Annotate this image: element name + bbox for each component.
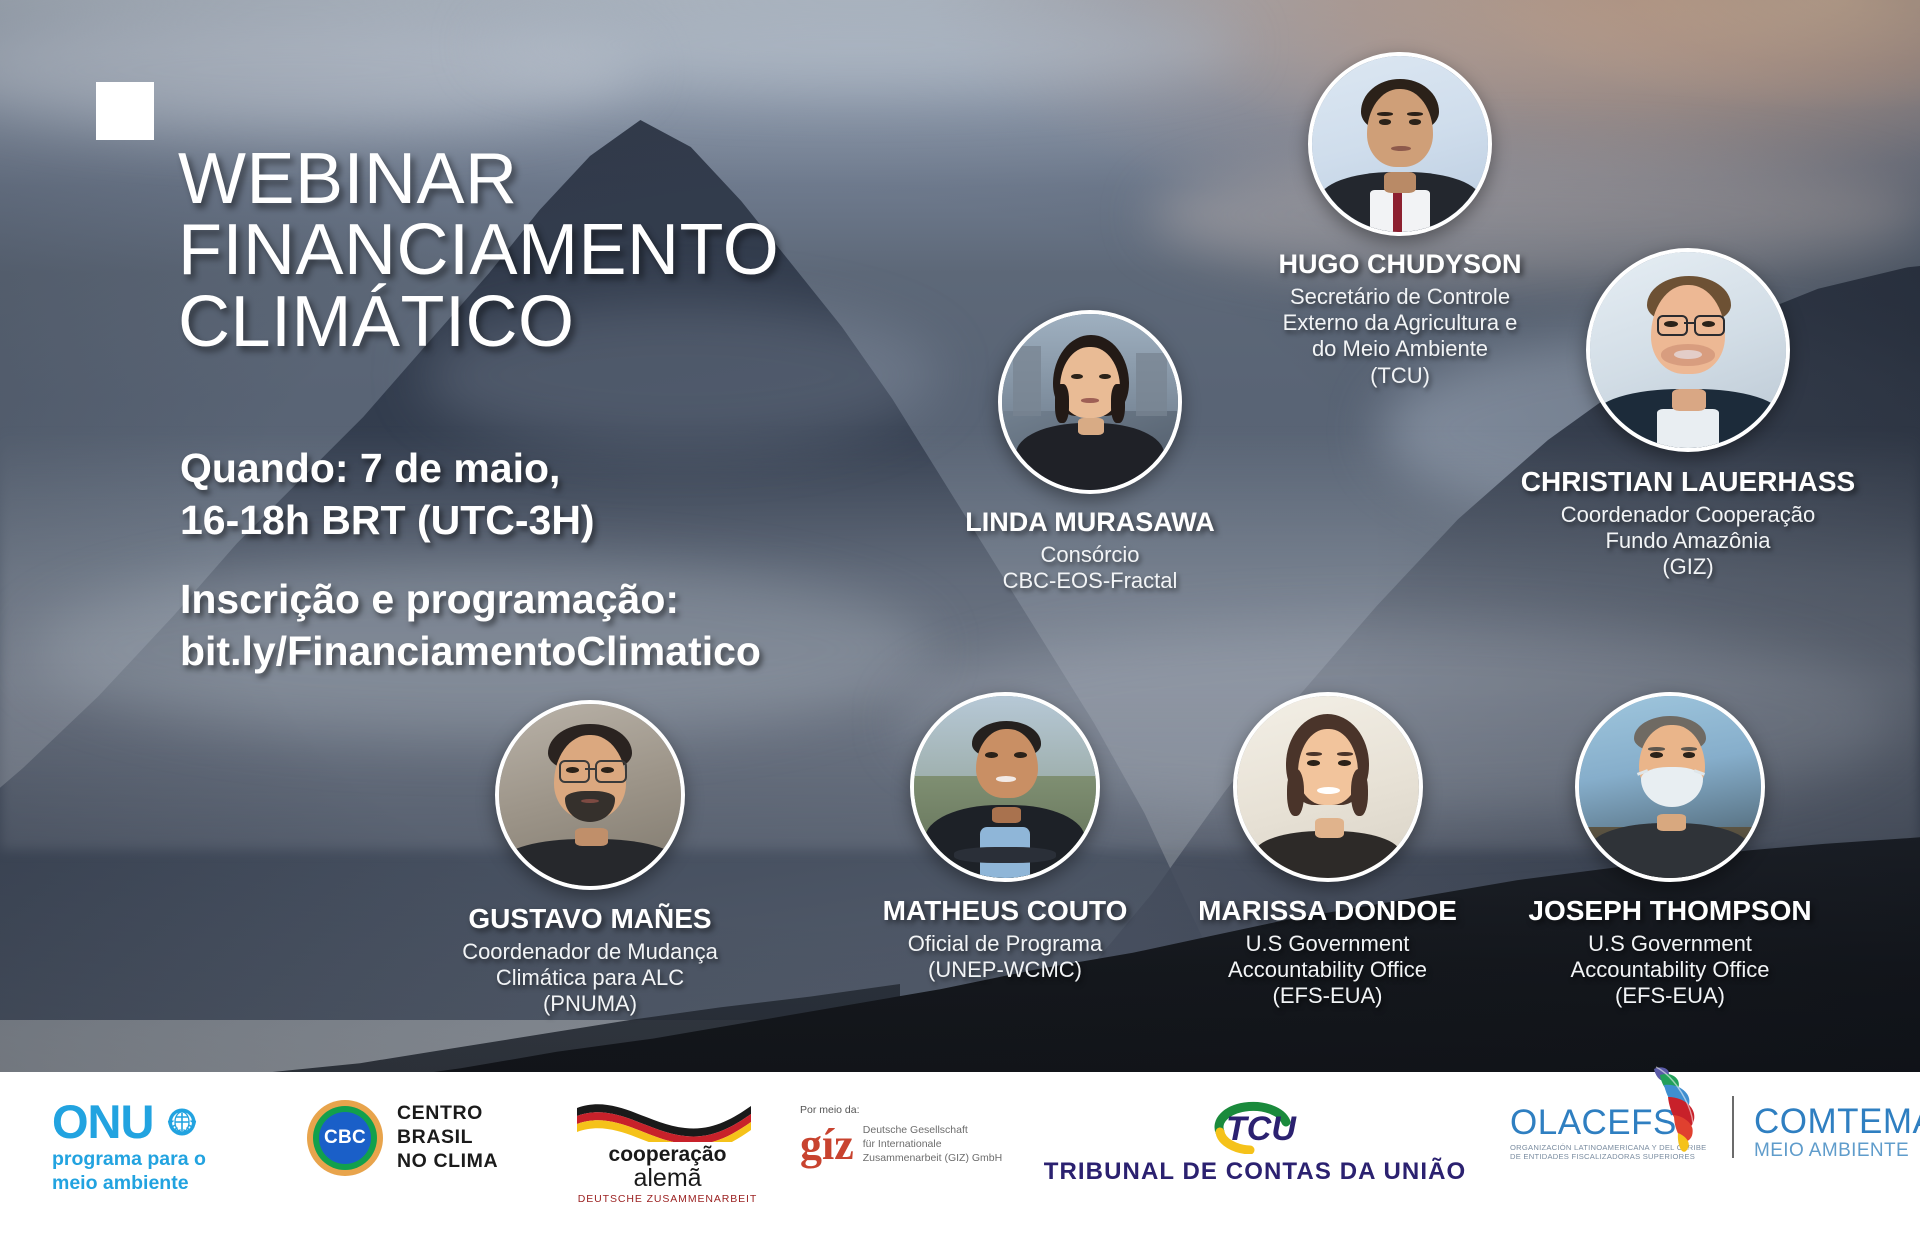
logo-olacefs-comtema: OLACEFS ORGANIZACIÓN LATINOAMERICANA Y D…: [1510, 1096, 1920, 1162]
footer-logo-bar: [0, 1164, 1920, 1242]
speaker-card: GUSTAVO MAÑES Coordenador de Mudança Cli…: [390, 700, 790, 1018]
portrait-marissa-dondoe: [1237, 696, 1419, 878]
decorative-white-square: [96, 82, 154, 140]
headline-line-3: CLIMÁTICO: [178, 287, 938, 358]
speaker-name: LINDA MURASAWA: [920, 507, 1260, 538]
tcu-name: TRIBUNAL DE CONTAS DA UNIÃO: [1040, 1158, 1470, 1186]
avatar: [1586, 248, 1790, 452]
speaker-card: JOSEPH THOMPSON U.S Government Accountab…: [1490, 692, 1850, 1010]
headline-line-1: WEBINAR: [178, 144, 938, 215]
headline-line-2: FINANCIAMENTO: [178, 215, 938, 286]
cooperacao-line3: DEUTSCHE ZUSAMMENARBEIT: [575, 1194, 760, 1205]
speaker-role: Coordenador de Mudança Climática para AL…: [390, 939, 790, 1018]
tcu-emblem-icon: TCU: [1190, 1098, 1320, 1154]
event-details: Quando: 7 de maio, 16-18h BRT (UTC-3H) I…: [180, 442, 940, 678]
portrait-christian-lauerhass: [1590, 252, 1786, 448]
speaker-card: LINDA MURASAWA Consórcio CBC-EOS-Fractal: [920, 310, 1260, 594]
when-time: 16-18h BRT (UTC-3H): [180, 494, 940, 546]
svg-text:TCU: TCU: [1226, 1110, 1297, 1148]
cbc-name-line2: BRASIL: [397, 1126, 498, 1150]
event-registration: Inscrição e programação: bit.ly/Financia…: [180, 573, 940, 678]
face-mask: [1641, 767, 1703, 807]
speaker-role: U.S Government Accountability Office (EF…: [1155, 931, 1500, 1010]
cloud-band-2: [480, 0, 1240, 90]
comtema-wordmark: COMTEMA: [1754, 1104, 1920, 1139]
giz-name-line1: Deutsche Gesellschaft: [863, 1123, 1002, 1137]
speaker-name: MATHEUS COUTO: [820, 895, 1190, 927]
german-flag-wave-icon: [575, 1098, 753, 1142]
comtema-subtitle: MEIO AMBIENTE: [1754, 1141, 1920, 1162]
speaker-role: Coordenador Cooperação Fundo Amazônia (G…: [1478, 502, 1898, 581]
cbc-emblem-icon: CBC: [307, 1100, 383, 1176]
avatar: [1575, 692, 1765, 882]
portrait-joseph-thompson: [1579, 696, 1761, 878]
portrait-gustavo-manes: [499, 704, 681, 886]
onu-tagline-line2: meio ambiente: [52, 1172, 206, 1196]
speaker-name: GUSTAVO MAÑES: [390, 903, 790, 935]
avatar: [1233, 692, 1423, 882]
speaker-role: Consórcio CBC-EOS-Fractal: [920, 542, 1260, 594]
logo-tcu: TCU TRIBUNAL DE CONTAS DA UNIÃO: [1040, 1098, 1470, 1186]
portrait-linda-murasawa: [1002, 314, 1178, 490]
cbc-name-line1: CENTRO: [397, 1102, 498, 1126]
portrait-matheus-couto: [914, 696, 1096, 878]
portrait-hugo-chudyson: [1312, 56, 1488, 232]
cbc-mark-text: CBC: [319, 1112, 371, 1164]
registration-label: Inscrição e programação:: [180, 573, 940, 625]
speaker-card: MATHEUS COUTO Oficial de Programa (UNEP-…: [820, 692, 1190, 983]
logo-onu: ONU programa para o meio ambiente: [52, 1098, 206, 1196]
logo-divider: [1732, 1096, 1734, 1158]
logo-cooperacao-alema: cooperação alemã DEUTSCHE ZUSAMMENARBEIT: [575, 1098, 760, 1205]
logo-giz: Por meio da: gíz Deutsche Gesellschaft f…: [800, 1104, 1002, 1166]
giz-name-line2: für Internationale: [863, 1137, 1002, 1151]
event-when: Quando: 7 de maio, 16-18h BRT (UTC-3H): [180, 442, 940, 547]
cooperacao-line2: alemã: [575, 1165, 760, 1191]
speaker-name: JOSEPH THOMPSON: [1490, 895, 1850, 927]
cbc-name-line3: NO CLIMA: [397, 1150, 498, 1174]
giz-wordmark: gíz: [800, 1127, 854, 1162]
latin-america-swoosh-icon: [1638, 1063, 1722, 1155]
un-laurel-emblem-icon: [161, 1101, 203, 1143]
speaker-name: MARISSA DONDOE: [1155, 895, 1500, 927]
avatar: [1308, 52, 1492, 236]
speaker-card: MARISSA DONDOE U.S Government Accountabi…: [1155, 692, 1500, 1010]
speaker-role: U.S Government Accountability Office (EF…: [1490, 931, 1850, 1010]
speaker-role: Oficial de Programa (UNEP-WCMC): [820, 931, 1190, 983]
when-date: Quando: 7 de maio,: [180, 442, 940, 494]
giz-name-line3: Zusammenarbeit (GIZ) GmbH: [863, 1151, 1002, 1165]
avatar: [910, 692, 1100, 882]
speaker-name: CHRISTIAN LAUERHASS: [1478, 466, 1898, 498]
logo-cbc: CBC CENTRO BRASIL NO CLIMA: [307, 1100, 498, 1176]
giz-prefix: Por meio da:: [800, 1104, 1002, 1116]
avatar: [998, 310, 1182, 494]
page-title: WEBINAR FINANCIAMENTO CLIMÁTICO: [178, 144, 938, 358]
onu-tagline-line1: programa para o: [52, 1148, 206, 1172]
speaker-card: CHRISTIAN LAUERHASS Coordenador Cooperaç…: [1478, 248, 1898, 581]
onu-wordmark: ONU: [52, 1098, 153, 1145]
registration-url[interactable]: bit.ly/FinanciamentoClimatico: [180, 625, 940, 677]
avatar: [495, 700, 685, 890]
cooperacao-line1: cooperação: [575, 1144, 760, 1165]
webinar-poster: WEBINAR FINANCIAMENTO CLIMÁTICO Quando: …: [0, 0, 1920, 1242]
